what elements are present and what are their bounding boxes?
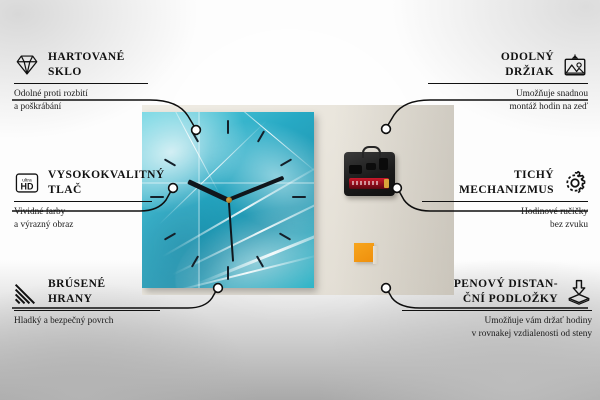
connector-dot-3 [214,284,223,293]
feature-title: VYSOKOKVALITNÝ TLAČ [48,168,165,198]
feature-title: TICHÝ MECHANIZMUS [422,168,554,198]
feature-header: TICHÝ MECHANIZMUS [422,168,588,198]
feature-description: Hodinové ručičky bez zvuku [422,206,588,231]
connector-dot-6 [382,284,391,293]
feature-header: ODOLNÝ DRŽIAK [428,50,588,80]
feature-header: HARTOVANÉ SKLO [14,50,162,80]
feature-divider [14,310,160,311]
brushed-edges-icon [14,279,40,305]
feature-odolny-drziak[interactable]: ODOLNÝ DRŽIAK Umožňuje snadnou montáž ho… [428,50,588,114]
connector-dot-5 [393,184,402,193]
feature-title: PENOVÝ DISTAN- ČNÍ PODLOŽKY [402,277,558,307]
gear-icon [562,170,588,196]
connector-dot-4 [382,125,391,134]
feature-penove-distancni-podlozky[interactable]: PENOVÝ DISTAN- ČNÍ PODLOŽKY Umožňuje vám… [402,277,592,341]
feature-divider [428,83,588,84]
feature-description: Odolné proti rozbití a poškrábání [14,88,162,113]
feature-description: Vividné farby a výrazný obraz [14,206,166,231]
connector-dot-1 [192,126,201,135]
feature-vysokokvalitny-tlac[interactable]: ultra HD VYSOKOKVALITNÝ TLAČ Vividné far… [14,168,166,232]
feature-description: Hladký a bezpečný povrch [14,315,174,328]
foam-pad-arrow-icon [566,279,592,305]
diamond-icon [14,52,40,78]
svg-text:HD: HD [21,182,34,192]
feature-title: ODOLNÝ DRŽIAK [428,50,554,80]
feature-header: PENOVÝ DISTAN- ČNÍ PODLOŽKY [402,277,592,307]
wall-mount-picture-icon [562,52,588,78]
feature-description: Umožňuje snadnou montáž hodin na zeď [428,88,588,113]
feature-header: BRÚSENÉ HRANY [14,277,174,307]
feature-description: Umožňuje vám držať hodiny v rovnakej vzd… [402,315,592,340]
feature-divider [14,201,152,202]
feature-divider [14,83,148,84]
feature-hartovane-sklo[interactable]: HARTOVANÉ SKLO Odolné proti rozbití a po… [14,50,162,114]
feature-header: ultra HD VYSOKOKVALITNÝ TLAČ [14,168,166,198]
infographic-canvas: HARTOVANÉ SKLO Odolné proti rozbití a po… [0,0,600,400]
feature-title: BRÚSENÉ HRANY [48,277,105,307]
connector-dot-2 [169,184,178,193]
feature-title: HARTOVANÉ SKLO [48,50,125,80]
feature-brusene-hrany[interactable]: BRÚSENÉ HRANY Hladký a bezpečný povrch [14,277,174,328]
ultra-hd-icon: ultra HD [14,170,40,196]
feature-divider [422,201,588,202]
feature-tichy-mechanizmus[interactable]: TICHÝ MECHANIZMUS Hodinové ručičky bez z… [422,168,588,232]
feature-divider [402,310,592,311]
